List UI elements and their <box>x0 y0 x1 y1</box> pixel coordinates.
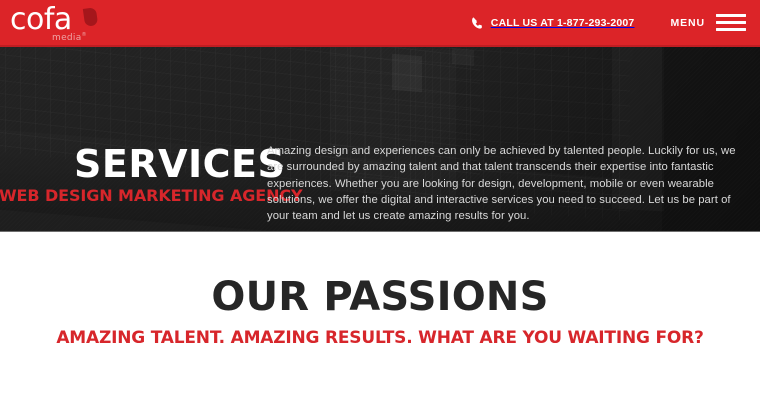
logo-tagline: media® <box>52 31 87 43</box>
hamburger-bar-3 <box>716 28 746 31</box>
hero-content: SERVICES WEB DESIGN MARKETING AGENCY Ama… <box>0 45 760 232</box>
phone-icon <box>471 16 484 30</box>
our-passions-section: OUR PASSIONS AMAZING TALENT. AMAZING RES… <box>0 232 760 400</box>
page-title: SERVICES <box>74 144 285 184</box>
passions-heading: OUR PASSIONS <box>0 276 760 318</box>
call-us-label: CALL US AT 1-877-293-2007 <box>491 17 635 29</box>
menu-label: MENU <box>670 17 705 29</box>
header-right-group: CALL US AT 1-877-293-2007 MENU <box>471 0 760 45</box>
hero-paragraph: Amazing design and experiences can only … <box>267 143 745 224</box>
hamburger-icon[interactable] <box>716 14 746 31</box>
leaf-icon <box>83 7 98 27</box>
menu-toggle[interactable]: MENU <box>670 14 746 31</box>
hamburger-bar-2 <box>716 21 746 24</box>
call-us-link[interactable]: CALL US AT 1-877-293-2007 <box>471 16 635 30</box>
hamburger-bar-1 <box>716 14 746 17</box>
hero-banner: SERVICES WEB DESIGN MARKETING AGENCY Ama… <box>0 45 760 232</box>
site-header: cofa media® CALL US AT 1-877-293-2007 ME… <box>0 0 760 45</box>
page-root: cofa media® CALL US AT 1-877-293-2007 ME… <box>0 0 760 400</box>
passions-tagline: AMAZING TALENT. AMAZING RESULTS. WHAT AR… <box>0 328 760 348</box>
site-logo[interactable]: cofa media® <box>8 2 128 44</box>
page-subtitle: WEB DESIGN MARKETING AGENCY <box>0 187 251 205</box>
